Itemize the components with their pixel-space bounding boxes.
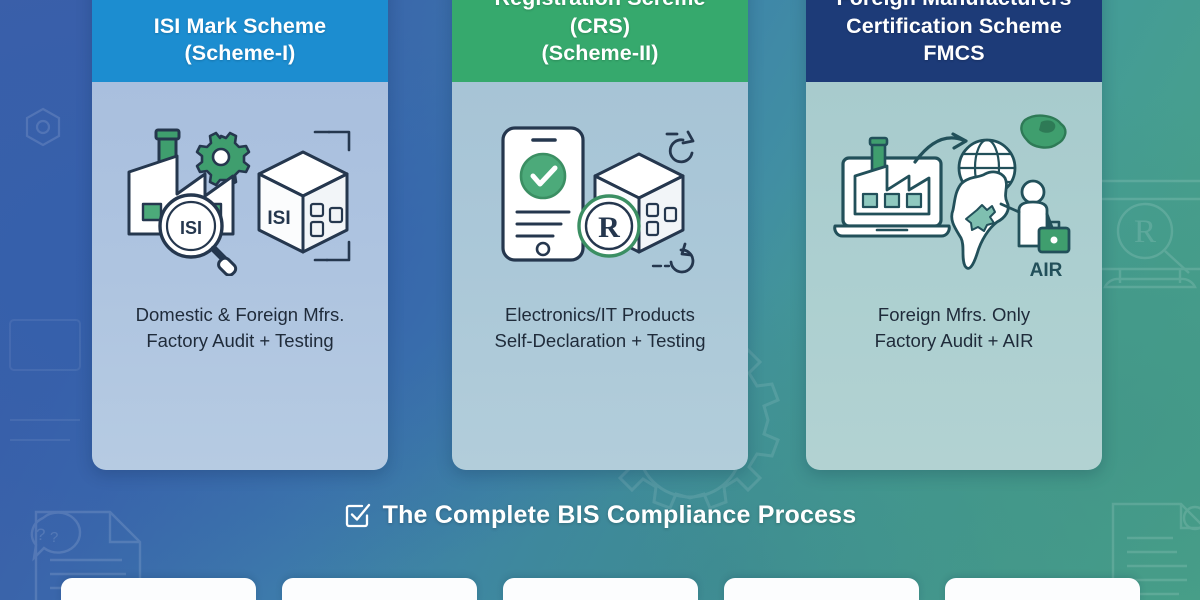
card-header-line: ISI Mark Scheme	[102, 13, 378, 41]
card-body-crs: R Electronics/IT Products Self-Declarati…	[452, 82, 748, 470]
process-title-text: The Complete BIS Compliance Process	[383, 501, 857, 530]
svg-text:R: R	[598, 211, 620, 244]
svg-text:ISI: ISI	[267, 208, 290, 229]
card-header-line: Registration Screme (CRS)	[462, 0, 738, 40]
card-header-line: Certification Scheme	[816, 13, 1092, 41]
process-title-row: The Complete BIS Compliance Process	[0, 501, 1200, 530]
card-header-crs: Compulsory Registration Registration Scr…	[452, 0, 748, 82]
card-header-fmcs: Foreign Manufacturers Certification Sche…	[806, 0, 1102, 82]
caption-line: Self-Declaration + Testing	[495, 328, 706, 354]
process-step-box[interactable]	[724, 578, 919, 600]
process-step-box[interactable]	[503, 578, 698, 600]
caption-line: Factory Audit + Testing	[136, 328, 345, 354]
card-header-isi-mark: ISI Mark Scheme (Scheme-I)	[92, 0, 388, 82]
svg-text:ISI: ISI	[180, 218, 202, 238]
caption-line: Domestic & Foreign Mfrs.	[136, 302, 345, 328]
compliance-process-section: The Complete BIS Compliance Process	[0, 482, 1200, 600]
process-steps-row	[0, 578, 1200, 600]
global-factory-india-air-illustration: AIR	[806, 96, 1102, 296]
caption-line: Foreign Mfrs. Only	[875, 302, 1034, 328]
check-square-icon	[344, 501, 372, 529]
factory-isi-inspection-illustration: ISI ISI	[92, 96, 388, 296]
card-body-isi-mark: ISI ISI	[92, 82, 388, 470]
card-header-line: (Scheme-I)	[102, 40, 378, 68]
mobile-selfdeclaration-registered-illustration: R	[452, 96, 748, 296]
card-caption-fmcs: Foreign Mfrs. Only Factory Audit + AIR	[863, 302, 1046, 355]
card-body-fmcs: AIR Foreign Mfrs. Only Factory Audit + A…	[806, 82, 1102, 470]
card-header-line: Foreign Manufacturers	[816, 0, 1092, 13]
scheme-card-isi-mark[interactable]: ISI Mark Scheme (Scheme-I)	[92, 0, 388, 470]
scheme-card-compulsory-registration[interactable]: Compulsory Registration Registration Scr…	[452, 0, 748, 470]
svg-text:AIR: AIR	[1030, 260, 1063, 281]
process-step-box[interactable]	[61, 578, 256, 600]
card-caption-isi-mark: Domestic & Foreign Mfrs. Factory Audit +…	[124, 302, 357, 355]
card-caption-crs: Electronics/IT Products Self-Declaration…	[483, 302, 718, 355]
card-header-line: (Scheme-II)	[462, 40, 738, 68]
caption-line: Electronics/IT Products	[495, 302, 706, 328]
process-step-box[interactable]	[945, 578, 1140, 600]
caption-line: Factory Audit + AIR	[875, 328, 1034, 354]
scheme-card-fmcs[interactable]: Foreign Manufacturers Certification Sche…	[806, 0, 1102, 470]
card-header-line: FMCS	[816, 40, 1092, 68]
process-step-box[interactable]	[282, 578, 477, 600]
